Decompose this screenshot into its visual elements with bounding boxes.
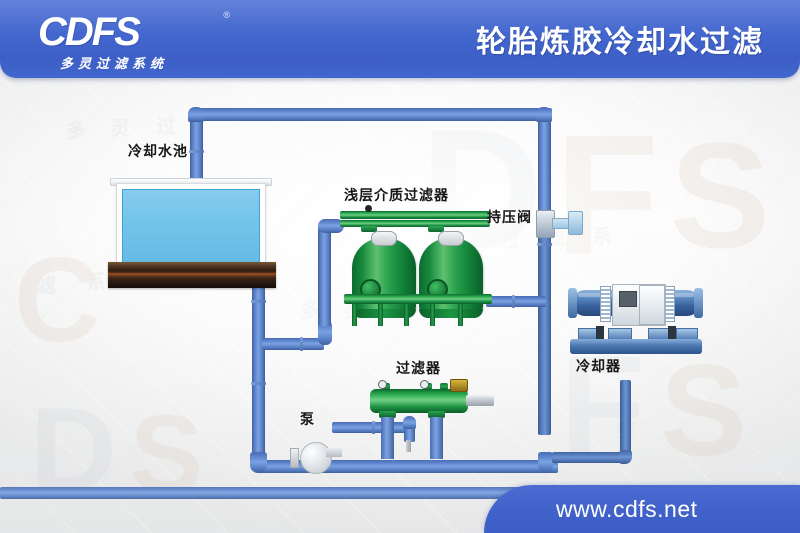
tank-bottom-manifold [344, 294, 492, 304]
pipe-bottom-left-elbow [250, 452, 267, 473]
logo-subtitle: 多灵过滤系统 [60, 53, 168, 72]
pipe-branch-to-filter [262, 338, 324, 350]
pipe-right-riser [538, 114, 551, 212]
cooler-panel-door[interactable] [639, 285, 665, 325]
website-url[interactable]: www.cdfs.net [556, 496, 698, 523]
filter-gauge [378, 380, 387, 389]
brand-logo[interactable]: CDFS ® 多灵过滤系统 [38, 12, 228, 68]
filter-outlet-tail [466, 395, 494, 406]
label-filter: 过滤器 [396, 358, 441, 378]
tank-manifold-valve [365, 205, 372, 212]
pipe-top-main [196, 108, 552, 121]
tank-hatch [438, 231, 464, 246]
pipe-collar [372, 421, 375, 434]
registered-trademark-icon: ® [223, 10, 230, 20]
pipe-cooler-column [538, 330, 551, 435]
pipe-collar [300, 337, 303, 351]
filter-control-valve[interactable] [450, 379, 468, 392]
pipe-bottom-right-elbow [538, 452, 553, 473]
pipe-collar [537, 243, 552, 246]
pipe-elbow-topright [536, 107, 552, 122]
tank-leg [458, 304, 463, 326]
pressure-valve-actuator [568, 211, 583, 235]
tank-leg [430, 304, 435, 326]
pipe-collar [251, 382, 266, 385]
pump-discharge-nozzle [326, 448, 342, 457]
filter-gauge [420, 380, 429, 389]
pipe-cooler-return [620, 380, 631, 457]
pipe-tank-inlet-riser [318, 226, 331, 326]
label-pump: 泵 [300, 409, 315, 429]
page-header: CDFS ® 多灵过滤系统 轮胎炼胶冷却水过滤 [0, 0, 800, 78]
pipe-collar [251, 300, 266, 303]
label-media-filter: 浅层介质过滤器 [344, 185, 449, 205]
filter-support-leg [430, 417, 443, 459]
pipe-elbow-topleft [188, 107, 204, 122]
cooler-fins [600, 286, 611, 322]
pipe-left-trunk [252, 268, 265, 466]
diagram-canvas: C D F S C F S D S 多 灵 过 滤 系 统 多 灵 过 滤 系 … [0, 0, 800, 533]
cooler-base-drum [570, 339, 702, 354]
tank-leg [378, 304, 383, 326]
pipe-pump-elbow [403, 416, 416, 429]
pipe-tank-outlet [486, 296, 546, 307]
tank-leg [352, 304, 357, 326]
pipe-collar [512, 295, 515, 308]
pipe-pool-riser [190, 115, 203, 183]
filter-nozzle [440, 383, 448, 390]
cooling-pool-water [122, 189, 260, 271]
page-title: 轮胎炼胶冷却水过滤 [476, 17, 764, 61]
cooler-endcap [568, 288, 577, 318]
label-cooler: 冷却器 [576, 356, 621, 376]
filter-vessel [370, 389, 468, 413]
filter-support-leg [381, 417, 394, 459]
label-cooling-pool: 冷却水池 [128, 141, 188, 161]
pump-volute [300, 442, 332, 474]
tank-hatch [371, 231, 397, 246]
cooler-foot [668, 326, 676, 339]
cooler-endcap [694, 288, 703, 318]
footer-bar: www.cdfs.net [484, 485, 800, 533]
pipe-collar [189, 150, 204, 153]
label-pressure-valve: 持压阀 [487, 207, 532, 227]
tank-top-manifold [340, 211, 490, 219]
logo-wordmark: CDFS [38, 12, 228, 52]
tank-leg [404, 304, 409, 326]
pool-foundation [108, 262, 276, 288]
filter-drain [406, 440, 411, 452]
cooler-display-screen [619, 291, 637, 307]
cooler-foot [596, 326, 604, 339]
pump-suction-flange [290, 448, 299, 468]
